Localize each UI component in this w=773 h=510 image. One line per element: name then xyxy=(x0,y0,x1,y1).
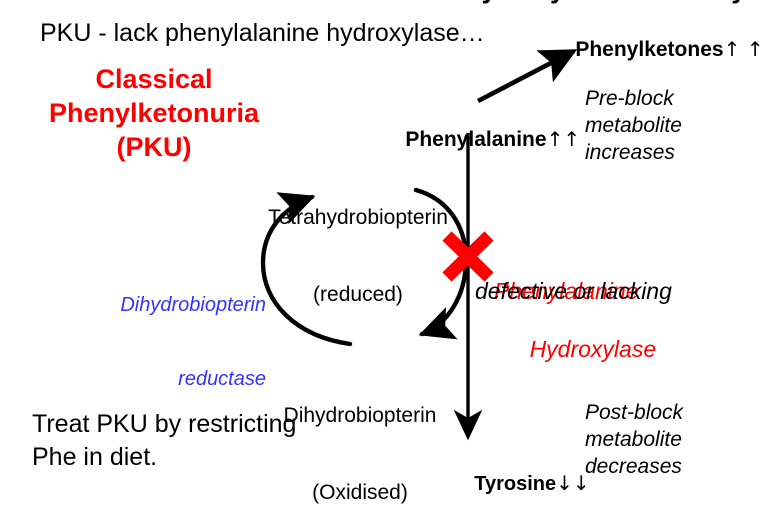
tetrahydrobiopterin-name: Tetrahydrobiopterin xyxy=(248,205,468,231)
disease-title: Classical Phenylketonuria (PKU) xyxy=(24,62,284,164)
tetrahydrobiopterin-state: (reduced) xyxy=(248,282,468,308)
enzyme-name-line2: Hydroxylase xyxy=(520,335,657,364)
phenylketones-change-arrows: ↑ ↑ xyxy=(724,37,764,61)
phenylalanine-label: Phenylalanine xyxy=(405,128,546,151)
cofactor-tetrahydrobiopterin: Tetrahydrobiopterin (reduced) xyxy=(248,154,468,359)
reductase-name-line2: reductase xyxy=(38,367,266,392)
post-block-annotation: Post-block metabolite decreases xyxy=(585,400,683,481)
phenylketones-label: Phenylketones xyxy=(575,38,723,61)
phenylalanine-change-arrows: ↑↑ xyxy=(547,127,581,151)
slide-header-cutoff: Amino acid metabolism: hereditary enzyme… xyxy=(40,0,746,6)
metabolite-phenylketones: Phenylketones↑ ↑ xyxy=(552,13,763,87)
pre-block-annotation: Pre-block metabolite increases xyxy=(585,86,682,167)
metabolite-tyrosine: Tyrosine↓↓ xyxy=(452,448,590,510)
reductase-name-line1: Dihydrobiopterin xyxy=(38,293,266,318)
dihydrobiopterin-state: (Oxidised) xyxy=(250,480,470,506)
blocked-enzyme-name: Phenylalanine Hydroxylase xyxy=(494,219,656,393)
slide-subtitle: PKU - lack phenylalanine hydroxylase… xyxy=(40,19,485,49)
treatment-note: Treat PKU by restricting Phe in diet. xyxy=(32,408,296,474)
tyrosine-label: Tyrosine xyxy=(474,473,556,495)
blocked-enzyme-status: defective or lacking xyxy=(475,278,672,305)
pku-pathway-slide: Amino acid metabolism: hereditary enzyme… xyxy=(0,0,773,510)
